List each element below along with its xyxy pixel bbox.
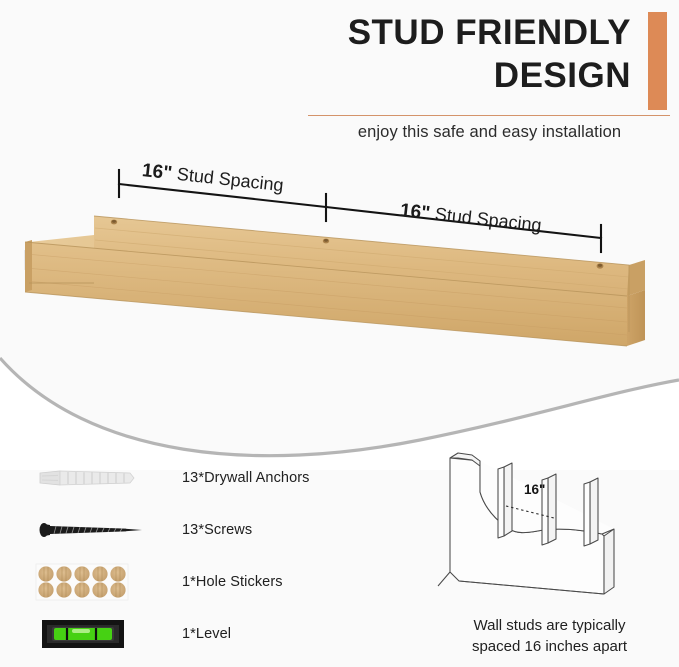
stud-diagram-caption: Wall studs are typically spaced 16 inche… bbox=[420, 616, 679, 657]
list-item: 1*Hole Stickers bbox=[34, 556, 364, 608]
list-item-label: 1*Level bbox=[182, 626, 231, 642]
header: STUD FRIENDLY DESIGN enjoy this safe and… bbox=[300, 0, 679, 150]
caption-line-1: Wall studs are typically bbox=[420, 616, 679, 637]
level-icon bbox=[34, 612, 152, 656]
shelf-illustration: 16" Stud Spacing 16" Stud Spacing bbox=[0, 150, 679, 390]
parts-list: 13*Drywall Anchors bbox=[34, 452, 364, 660]
list-item-label: 13*Drywall Anchors bbox=[182, 470, 310, 486]
screw-icon bbox=[34, 508, 152, 552]
list-item-label: 1*Hole Stickers bbox=[182, 574, 283, 590]
drywall-anchor-icon bbox=[34, 456, 152, 500]
stud-dimension-label: 16" bbox=[524, 482, 545, 497]
list-item: 13*Screws bbox=[34, 504, 364, 556]
measure-value-right: 16" bbox=[399, 200, 431, 224]
subtitle: enjoy this safe and easy installation bbox=[300, 123, 679, 142]
list-item: 13*Drywall Anchors bbox=[34, 452, 364, 504]
stud-spacing-dimension-lines bbox=[0, 150, 679, 390]
caption-line-2: spaced 16 inches apart bbox=[420, 637, 679, 658]
measure-value-left: 16" bbox=[141, 160, 173, 184]
page-title: STUD FRIENDLY DESIGN bbox=[348, 12, 631, 97]
title-line-1: STUD FRIENDLY bbox=[348, 12, 631, 55]
wall-stud-diagram: 16" bbox=[432, 444, 667, 604]
list-item-label: 13*Screws bbox=[182, 522, 252, 538]
hole-stickers-icon bbox=[34, 560, 152, 604]
list-item: 1*Level bbox=[34, 608, 364, 660]
accent-bar bbox=[648, 12, 667, 110]
title-line-2: DESIGN bbox=[348, 55, 631, 98]
infographic-page: STUD FRIENDLY DESIGN enjoy this safe and… bbox=[0, 0, 679, 667]
header-divider-rule bbox=[308, 115, 670, 116]
